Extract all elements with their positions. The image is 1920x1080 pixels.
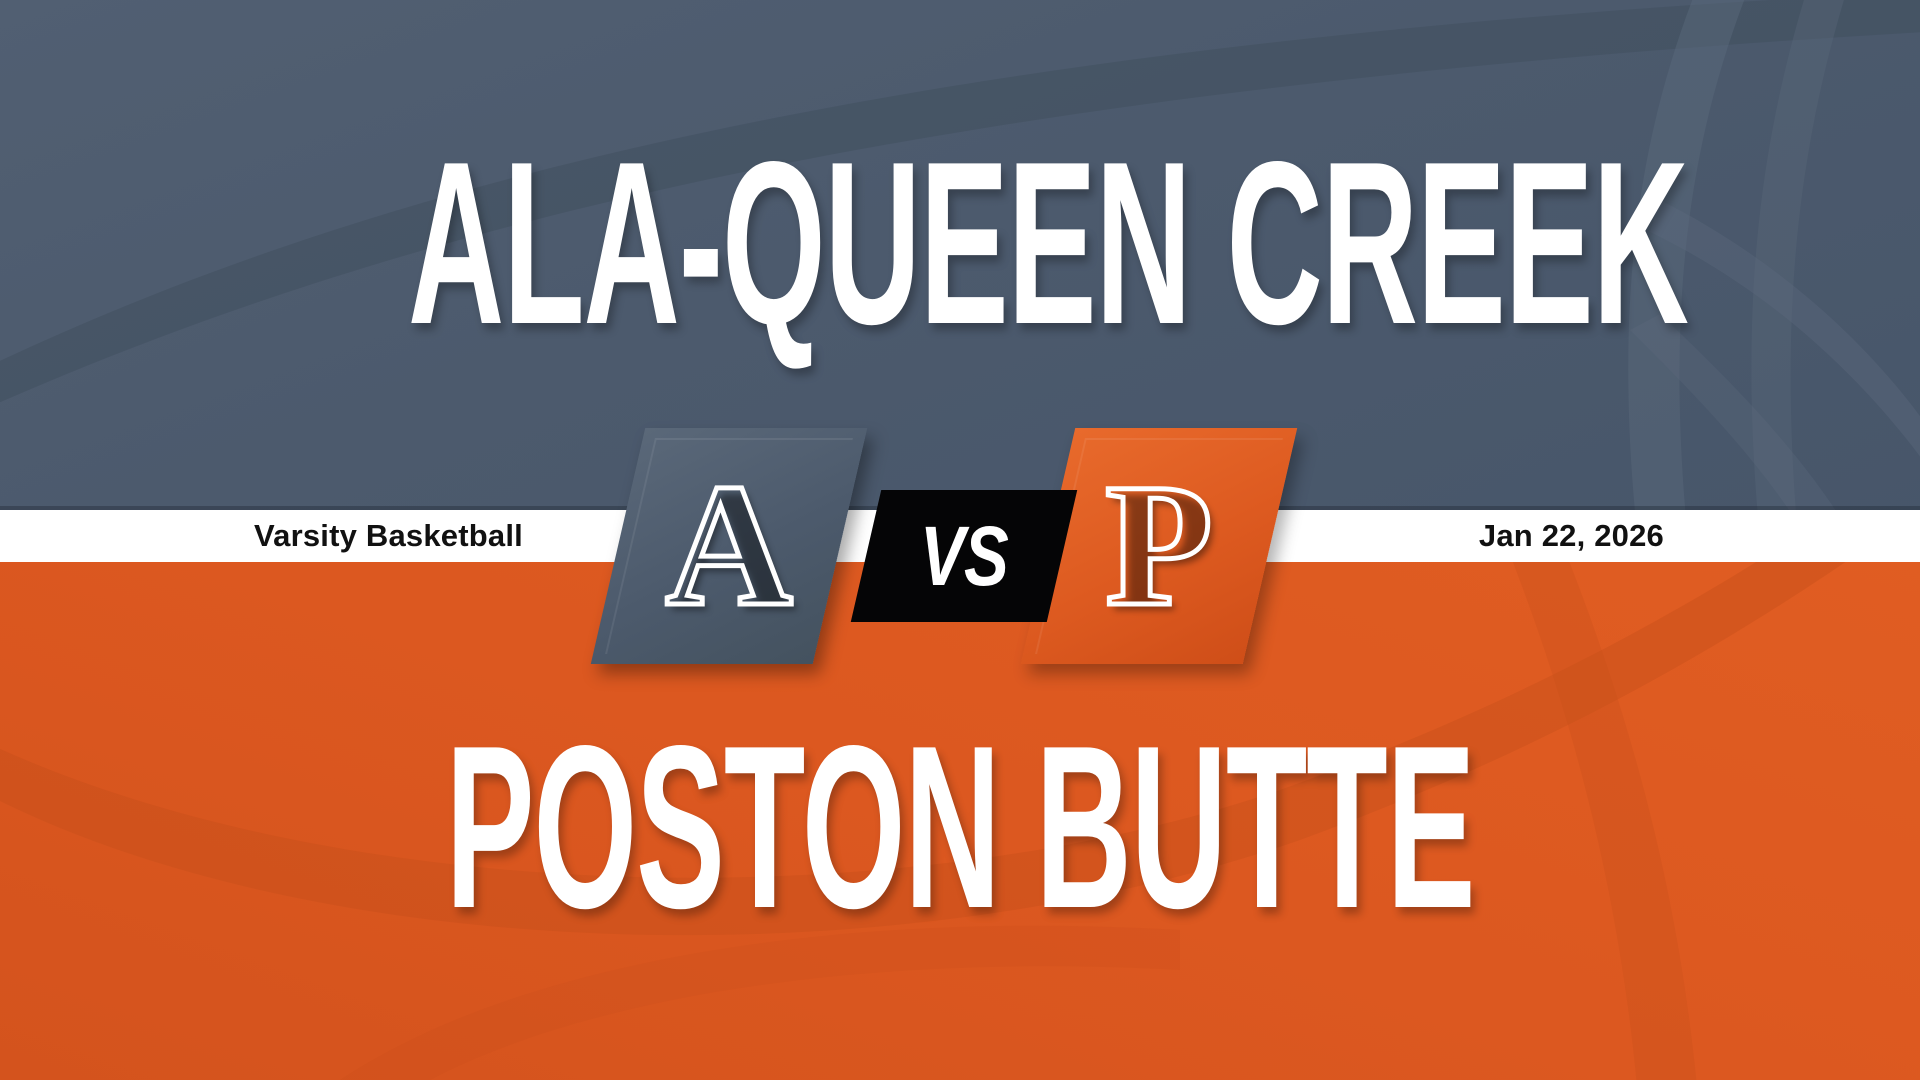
matchup-graphic: ALA-QUEEN CREEK POSTON BUTTE Varsity Bas… bbox=[0, 0, 1920, 1080]
versus-label: VS bbox=[886, 490, 1043, 622]
sport-label: Varsity Basketball bbox=[254, 510, 523, 562]
game-date-label: Jan 22, 2026 bbox=[1479, 510, 1664, 562]
away-team-logo-letter: A bbox=[618, 428, 840, 664]
home-team-logo-letter: P bbox=[1048, 428, 1270, 664]
